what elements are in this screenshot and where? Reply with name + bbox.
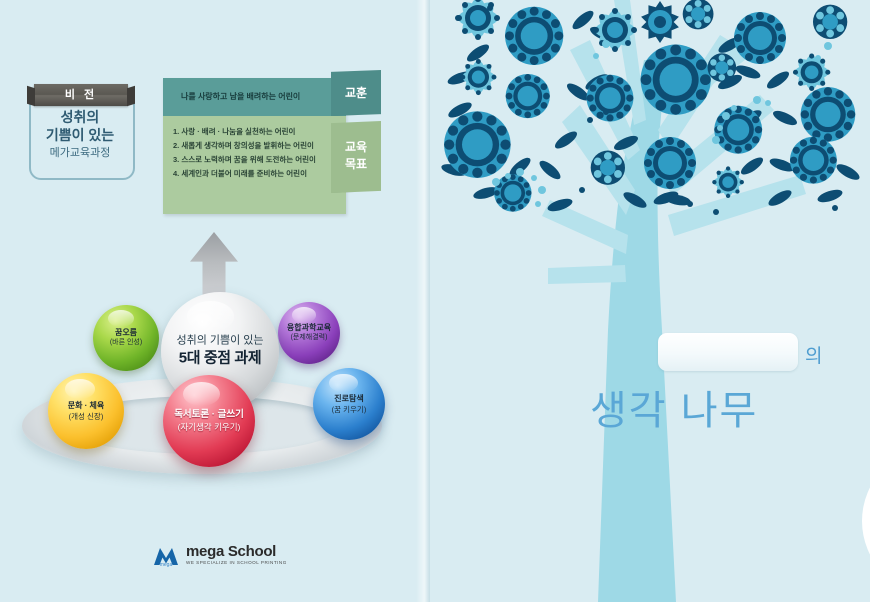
sphere-yellow-main: 문화 · 체육 bbox=[48, 400, 124, 411]
possessive-particle: 의 bbox=[805, 341, 822, 368]
svg-text:mega: mega bbox=[160, 562, 173, 567]
sphere-red-sub: (자기생각 키우기) bbox=[163, 421, 255, 433]
sphere-yellow-text: 문화 · 체육 (개성 신장) bbox=[48, 400, 124, 422]
vision-line-2: 기쁨이 있는 bbox=[29, 126, 131, 144]
goals-list: 1. 사랑 · 배려 · 나눔을 실천하는 어린이 2. 새롭게 생각하며 창의… bbox=[173, 125, 346, 181]
motto-text: 나를 사랑하고 남을 배려하는 어린이 bbox=[163, 78, 346, 116]
sphere-red: 독서토론 · 글쓰기 (자기생각 키우기) bbox=[163, 375, 255, 467]
sphere-purple: 융합과학교육 (문제해결력) bbox=[278, 302, 340, 364]
motto-goals-panel: 나를 사랑하고 남을 배려하는 어린이 1. 사랑 · 배려 · 나눔을 실천하… bbox=[163, 78, 346, 214]
goals-tab: 교육 목표 bbox=[331, 121, 381, 193]
motto-tab-label: 교훈 bbox=[331, 70, 381, 116]
goals-tab-label-2: 목표 bbox=[331, 156, 381, 173]
sphere-center-subtitle: 성취의 기쁨이 있는 bbox=[161, 334, 279, 349]
sphere-green-main: 꿈오름 bbox=[93, 328, 159, 338]
logo-name: mega School bbox=[186, 544, 287, 559]
sphere-green: 꿈오름 (바른 인성) bbox=[93, 305, 159, 371]
motto-tab: 교훈 bbox=[331, 70, 381, 116]
sphere-blue-main: 진로탐색 bbox=[313, 393, 385, 404]
mega-school-logo: mega mega School WE SPECIALIZE IN SCHOOL… bbox=[152, 544, 287, 567]
student-name-blank-field[interactable] bbox=[658, 333, 798, 371]
mega-logo-text: mega School WE SPECIALIZE IN SCHOOL PRIN… bbox=[186, 544, 287, 567]
sphere-center-text: 성취의 기쁨이 있는 5대 중점 과제 bbox=[161, 334, 279, 369]
goal-item: 3. 스스로 노력하며 꿈을 위해 도전하는 어린이 bbox=[173, 153, 346, 167]
goal-item: 2. 새롭게 생각하며 창의성을 발휘하는 어린이 bbox=[173, 139, 346, 153]
sphere-purple-main: 융합과학교육 bbox=[278, 323, 340, 333]
sphere-green-text: 꿈오름 (바른 인성) bbox=[93, 328, 159, 348]
goal-item: 1. 사랑 · 배려 · 나눔을 실천하는 어린이 bbox=[173, 125, 346, 139]
flower-tree-icon bbox=[430, 0, 870, 602]
sphere-blue: 진로탐색 (꿈 키우기) bbox=[313, 368, 385, 440]
sphere-red-text: 독서토론 · 글쓰기 (자기생각 키우기) bbox=[163, 409, 255, 433]
sphere-yellow: 문화 · 체육 (개성 신장) bbox=[48, 373, 124, 449]
cover-title: 생각 나무 bbox=[590, 378, 870, 436]
front-cover: 의 생각 나무 반 번 이름 : bbox=[430, 0, 870, 602]
vision-line-3: 메가교육과정 bbox=[29, 145, 131, 161]
sphere-yellow-sub: (개성 신장) bbox=[48, 411, 124, 422]
vision-ribbon: 비 전 bbox=[34, 84, 128, 106]
goal-item: 4. 세계인과 더불어 미래를 준비하는 어린이 bbox=[173, 167, 346, 181]
motto-section: 나를 사랑하고 남을 배려하는 어린이 bbox=[163, 78, 346, 116]
sphere-green-sub: (바른 인성) bbox=[93, 338, 159, 348]
vision-ribbon-label: 비 전 bbox=[34, 84, 128, 106]
sphere-center-title: 5대 중점 과제 bbox=[161, 349, 279, 369]
logo-tagline: WE SPECIALIZE IN SCHOOL PRINTING bbox=[186, 559, 287, 567]
back-cover: 비 전 성취의 기쁨이 있는 메가교육과정 나를 사랑하고 남을 배려하는 어린… bbox=[0, 0, 430, 602]
sphere-blue-text: 진로탐색 (꿈 키우기) bbox=[313, 393, 385, 415]
vision-text-group: 성취의 기쁨이 있는 메가교육과정 bbox=[29, 108, 131, 161]
sphere-purple-text: 융합과학교육 (문제해결력) bbox=[278, 323, 340, 343]
vision-line-1: 성취의 bbox=[29, 108, 131, 126]
mega-logo-icon: mega bbox=[152, 545, 180, 567]
sphere-red-main: 독서토론 · 글쓰기 bbox=[163, 409, 255, 421]
goals-section: 1. 사랑 · 배려 · 나눔을 실천하는 어린이 2. 새롭게 생각하며 창의… bbox=[163, 116, 346, 214]
sphere-purple-sub: (문제해결력) bbox=[278, 333, 340, 343]
goals-tab-label-1: 교육 bbox=[331, 121, 381, 156]
brochure-page: 비 전 성취의 기쁨이 있는 메가교육과정 나를 사랑하고 남을 배려하는 어린… bbox=[0, 0, 870, 602]
sphere-blue-sub: (꿈 키우기) bbox=[313, 404, 385, 415]
